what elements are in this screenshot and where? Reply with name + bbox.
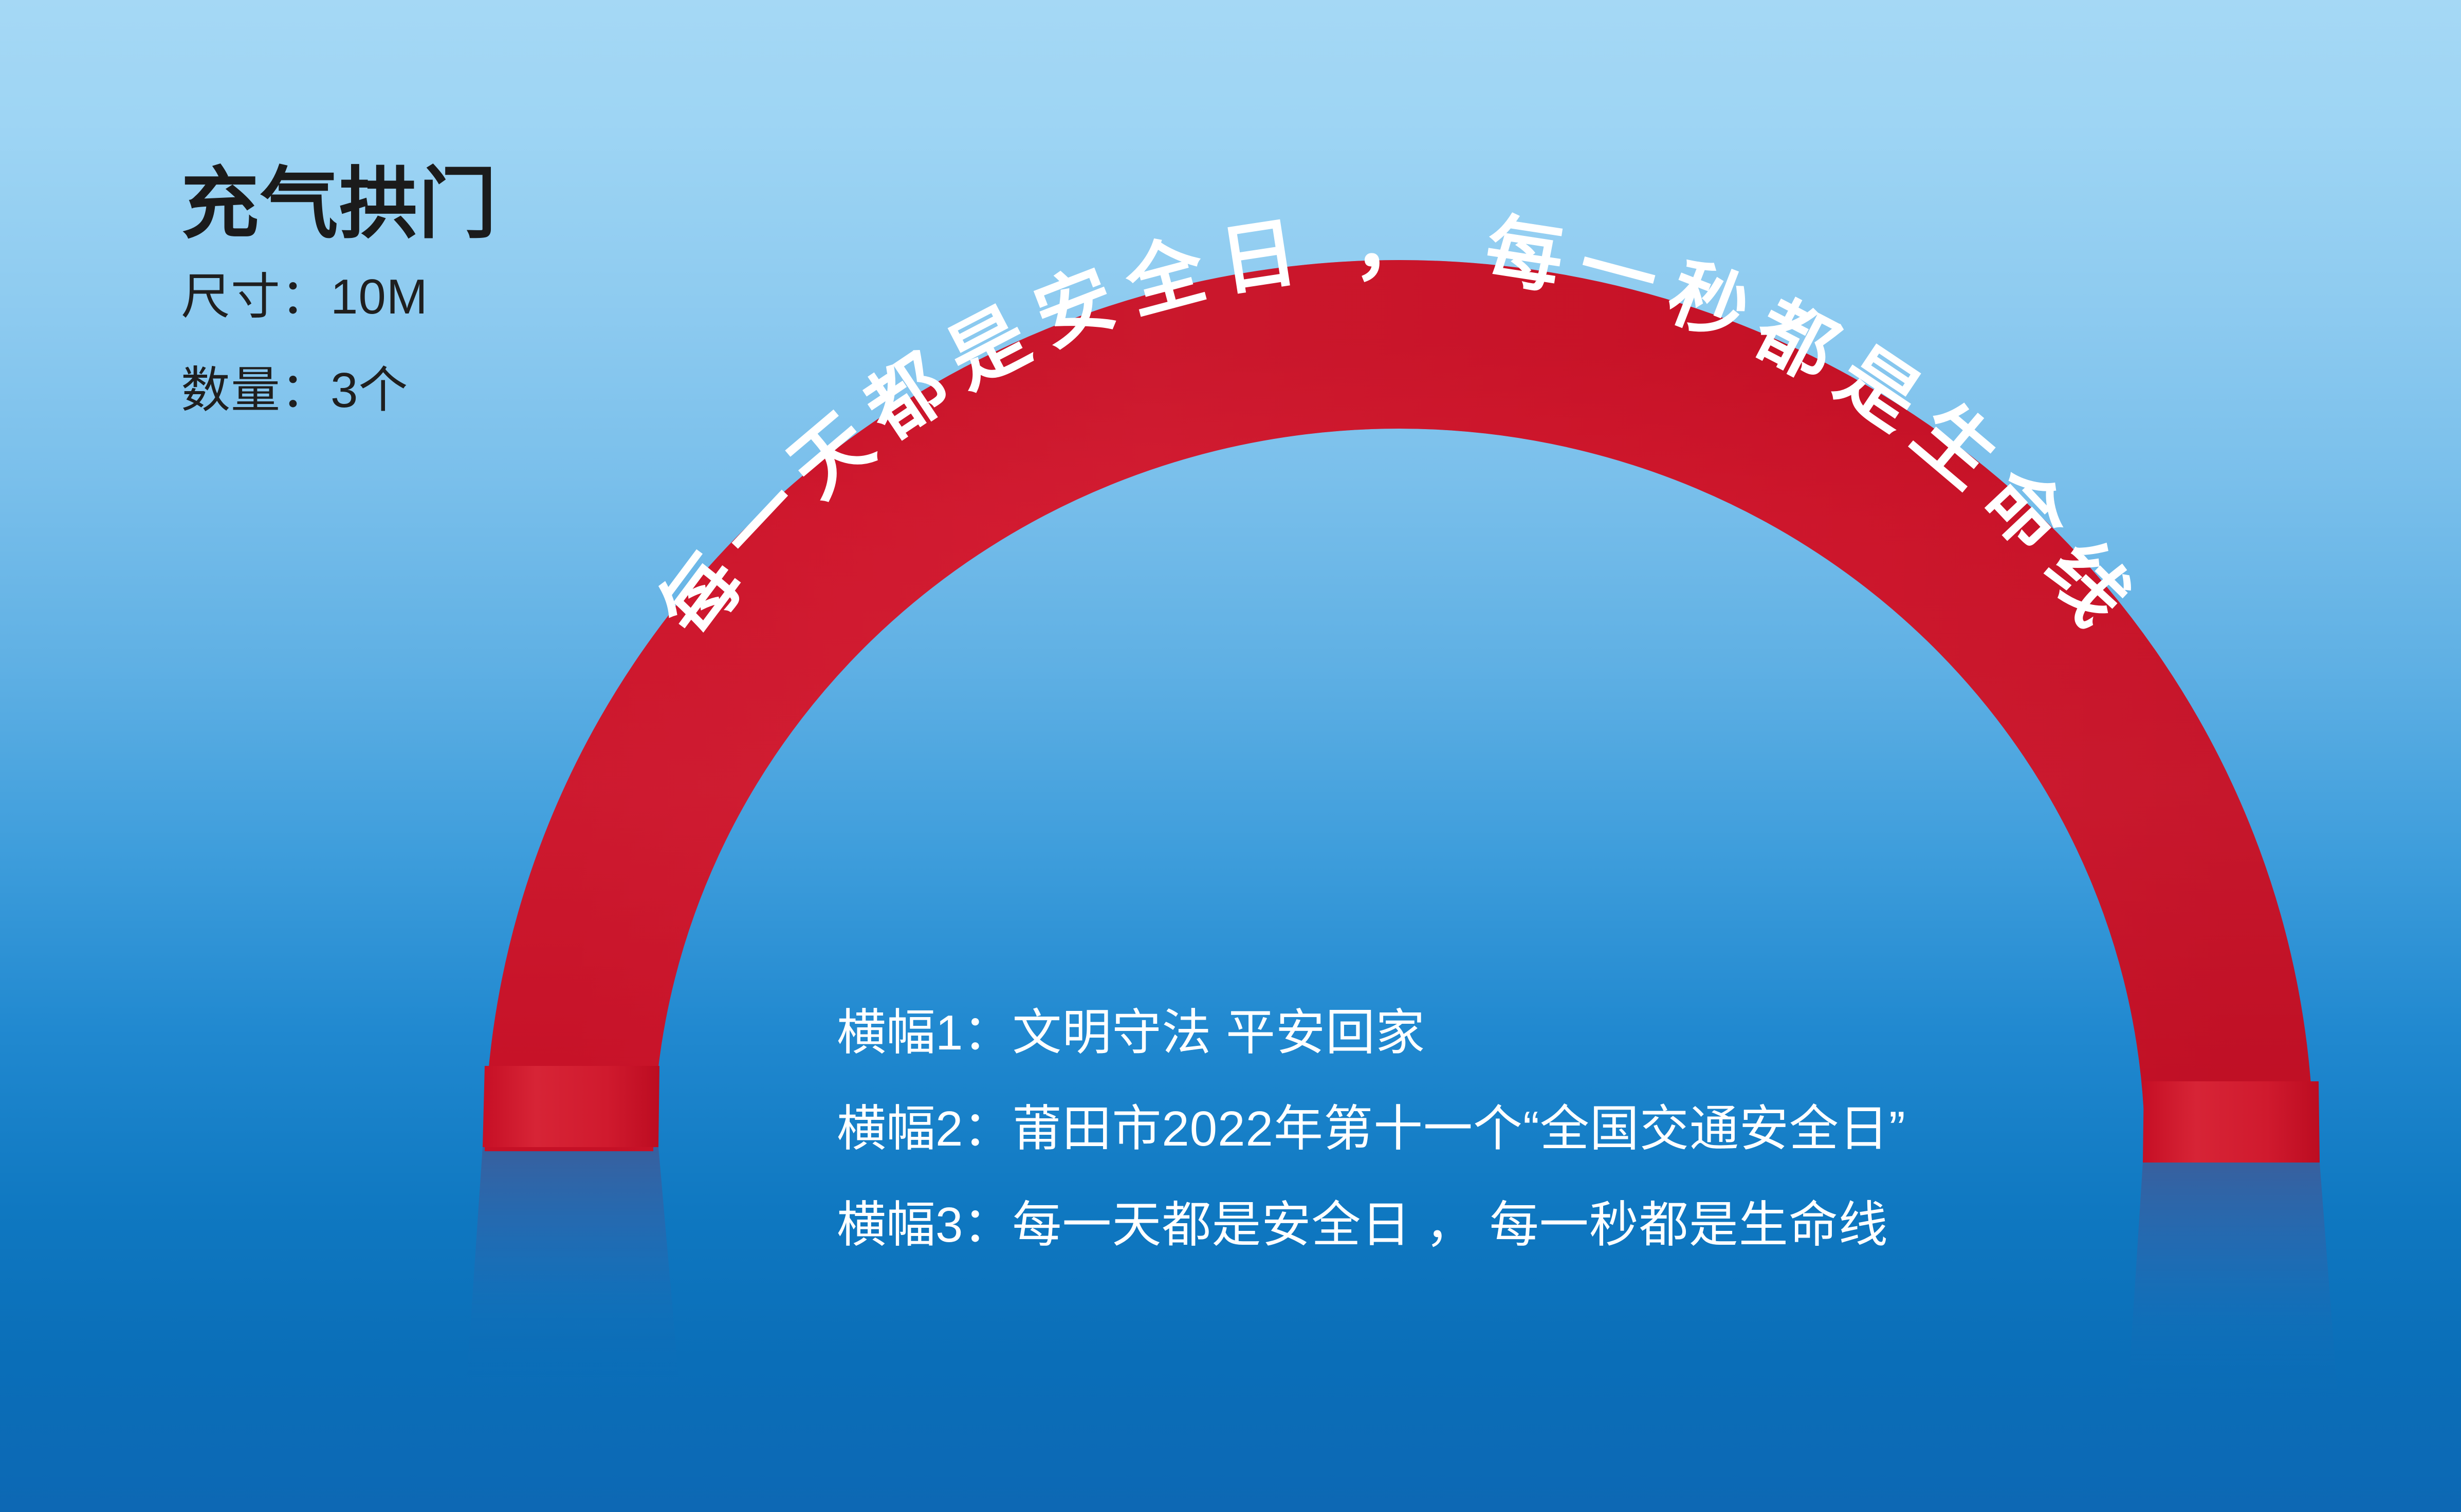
- banner-line-2: 横幅2：莆田市2022年第十一个“全国交通安全日”: [837, 1104, 2225, 1154]
- banner-1-text: 文明守法 平安回家: [1012, 1005, 1425, 1060]
- banner-1-tag: 横幅1：: [837, 1005, 1012, 1060]
- product-spec-block: 充气拱门 尺寸：10M 数量：3个: [181, 160, 746, 415]
- banner-3-text: 每一天都是安全日 ， 每一秒都是生命线: [1012, 1197, 1888, 1252]
- spec-size-label: 尺寸：: [181, 269, 330, 324]
- page-title: 充气拱门: [181, 160, 746, 248]
- banner-line-3: 横幅3：每一天都是安全日 ， 每一秒都是生命线: [837, 1201, 2225, 1250]
- spec-row-size: 尺寸：10M: [181, 272, 746, 322]
- spec-row-quantity: 数量：3个: [181, 366, 746, 415]
- arch-slogan-text: 每一天都是安全日 ， 每一秒都是生命线: [644, 202, 2154, 652]
- spec-size-value: 10M: [330, 269, 428, 324]
- banner-list: 横幅1：文明守法 平安回家 横幅2：莆田市2022年第十一个“全国交通安全日” …: [837, 1008, 2225, 1250]
- banner-3-tag: 横幅3：: [837, 1197, 1012, 1252]
- spec-qty-label: 数量：: [181, 363, 330, 418]
- banner-line-1: 横幅1：文明守法 平安回家: [837, 1008, 2225, 1058]
- banner-2-text: 莆田市2022年第十一个“全国交通安全日”: [1012, 1101, 1906, 1156]
- banner-2-tag: 横幅2：: [837, 1101, 1012, 1156]
- spec-qty-value: 3个: [330, 363, 408, 418]
- product-mockup-canvas: 每一天都是安全日 ， 每一秒都是生命线 充气拱门 尺寸：10M 数量：3个 横幅…: [0, 0, 2461, 1512]
